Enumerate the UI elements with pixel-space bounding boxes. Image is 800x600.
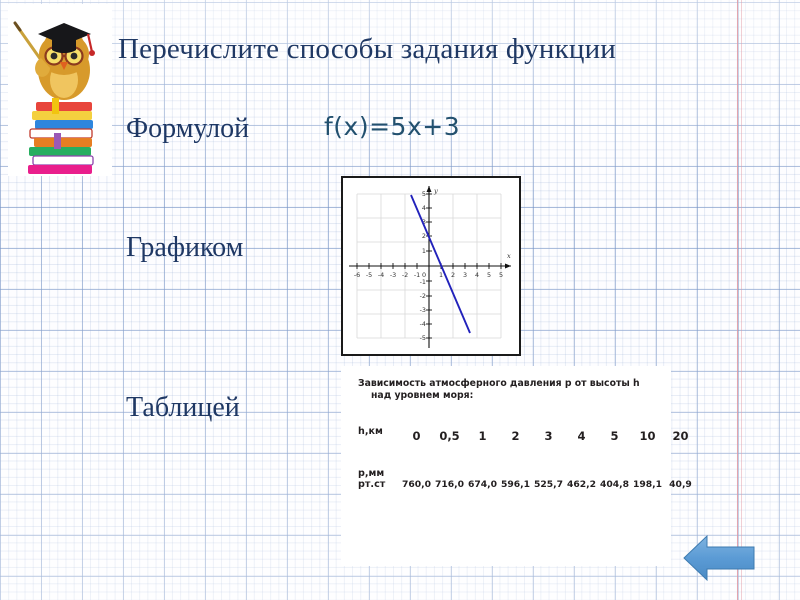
row-header-pressure-line2: рт.ст: [358, 479, 400, 490]
cell: 674,0: [466, 479, 499, 490]
cell: 1: [466, 429, 499, 443]
cell: 596,1: [499, 479, 532, 490]
cell: 10: [631, 429, 664, 443]
svg-text:x: x: [507, 252, 511, 260]
svg-text:-2: -2: [420, 292, 426, 300]
svg-text:1: 1: [422, 247, 426, 255]
back-arrow-button[interactable]: [682, 534, 756, 582]
owl-illustration-icon: [8, 4, 112, 176]
row-values-height: 0 0,5 1 2 3 4 5 10 20: [400, 429, 697, 443]
margin-rule-line: [737, 0, 738, 600]
svg-text:-4: -4: [378, 271, 384, 279]
margin-rule-line-secondary: [741, 0, 742, 600]
table-caption: Зависимость атмосферного давления p от в…: [358, 378, 658, 402]
cell: 404,8: [598, 479, 631, 490]
svg-text:5: 5: [487, 271, 491, 279]
method-label-table: Таблицей: [126, 392, 240, 424]
svg-text:y: y: [433, 187, 438, 195]
cell: 0,5: [433, 429, 466, 443]
slide: Перечислите способы задания функции Форм…: [0, 0, 800, 600]
table-picture: Зависимость атмосферного давления p от в…: [341, 366, 671, 566]
table-row: p,мм рт.ст 760,0 716,0 674,0 596,1 525,7…: [358, 468, 697, 490]
cell: 760,0: [400, 479, 433, 490]
svg-text:1: 1: [439, 271, 443, 279]
owl-mascot: [8, 4, 112, 176]
svg-text:-4: -4: [420, 320, 426, 328]
cell: 5: [598, 429, 631, 443]
row-header-pressure-line1: p,мм: [358, 468, 400, 479]
cell: 198,1: [631, 479, 664, 490]
formula-expression: f(x)=5x+3: [324, 112, 460, 141]
cell: 3: [532, 429, 565, 443]
cell: 20: [664, 429, 697, 443]
arrow-left-icon[interactable]: [682, 534, 756, 582]
coordinate-plane-chart: -6 -4 -2 -1 2 3 4 5 -5 -3 1 5 0 5 4 3 2 …: [343, 178, 519, 354]
table-row: h,км 0 0,5 1 2 3 4 5 10 20: [358, 429, 697, 443]
svg-text:-5: -5: [366, 271, 372, 279]
svg-text:2: 2: [422, 232, 426, 240]
method-label-graph: Графиком: [126, 232, 243, 264]
cell: 4: [565, 429, 598, 443]
svg-text:5: 5: [422, 190, 426, 198]
svg-text:-3: -3: [390, 271, 396, 279]
row-header-pressure: p,мм рт.ст: [358, 468, 400, 490]
svg-text:-1: -1: [420, 278, 426, 286]
svg-text:5: 5: [499, 271, 503, 279]
svg-text:3: 3: [463, 271, 467, 279]
svg-text:-6: -6: [354, 271, 360, 279]
row-values-pressure: 760,0 716,0 674,0 596,1 525,7 462,2 404,…: [400, 479, 697, 490]
svg-text:-2: -2: [402, 271, 408, 279]
svg-text:-3: -3: [420, 306, 426, 314]
cell: 0: [400, 429, 433, 443]
cell: 2: [499, 429, 532, 443]
table-caption-line2: над уровнем моря:: [358, 390, 658, 402]
svg-text:4: 4: [422, 204, 426, 212]
method-label-formula: Формулой: [126, 113, 249, 145]
cell: 462,2: [565, 479, 598, 490]
cell: 40,9: [664, 479, 697, 490]
svg-text:-5: -5: [420, 334, 426, 342]
table-caption-line1: Зависимость атмосферного давления p от в…: [358, 378, 640, 389]
svg-text:4: 4: [475, 271, 479, 279]
row-header-height: h,км: [358, 426, 400, 437]
cell: 716,0: [433, 479, 466, 490]
svg-text:2: 2: [451, 271, 455, 279]
page-title: Перечислите способы задания функции: [118, 33, 616, 66]
graph-picture: -6 -4 -2 -1 2 3 4 5 -5 -3 1 5 0 5 4 3 2 …: [341, 176, 521, 356]
cell: 525,7: [532, 479, 565, 490]
